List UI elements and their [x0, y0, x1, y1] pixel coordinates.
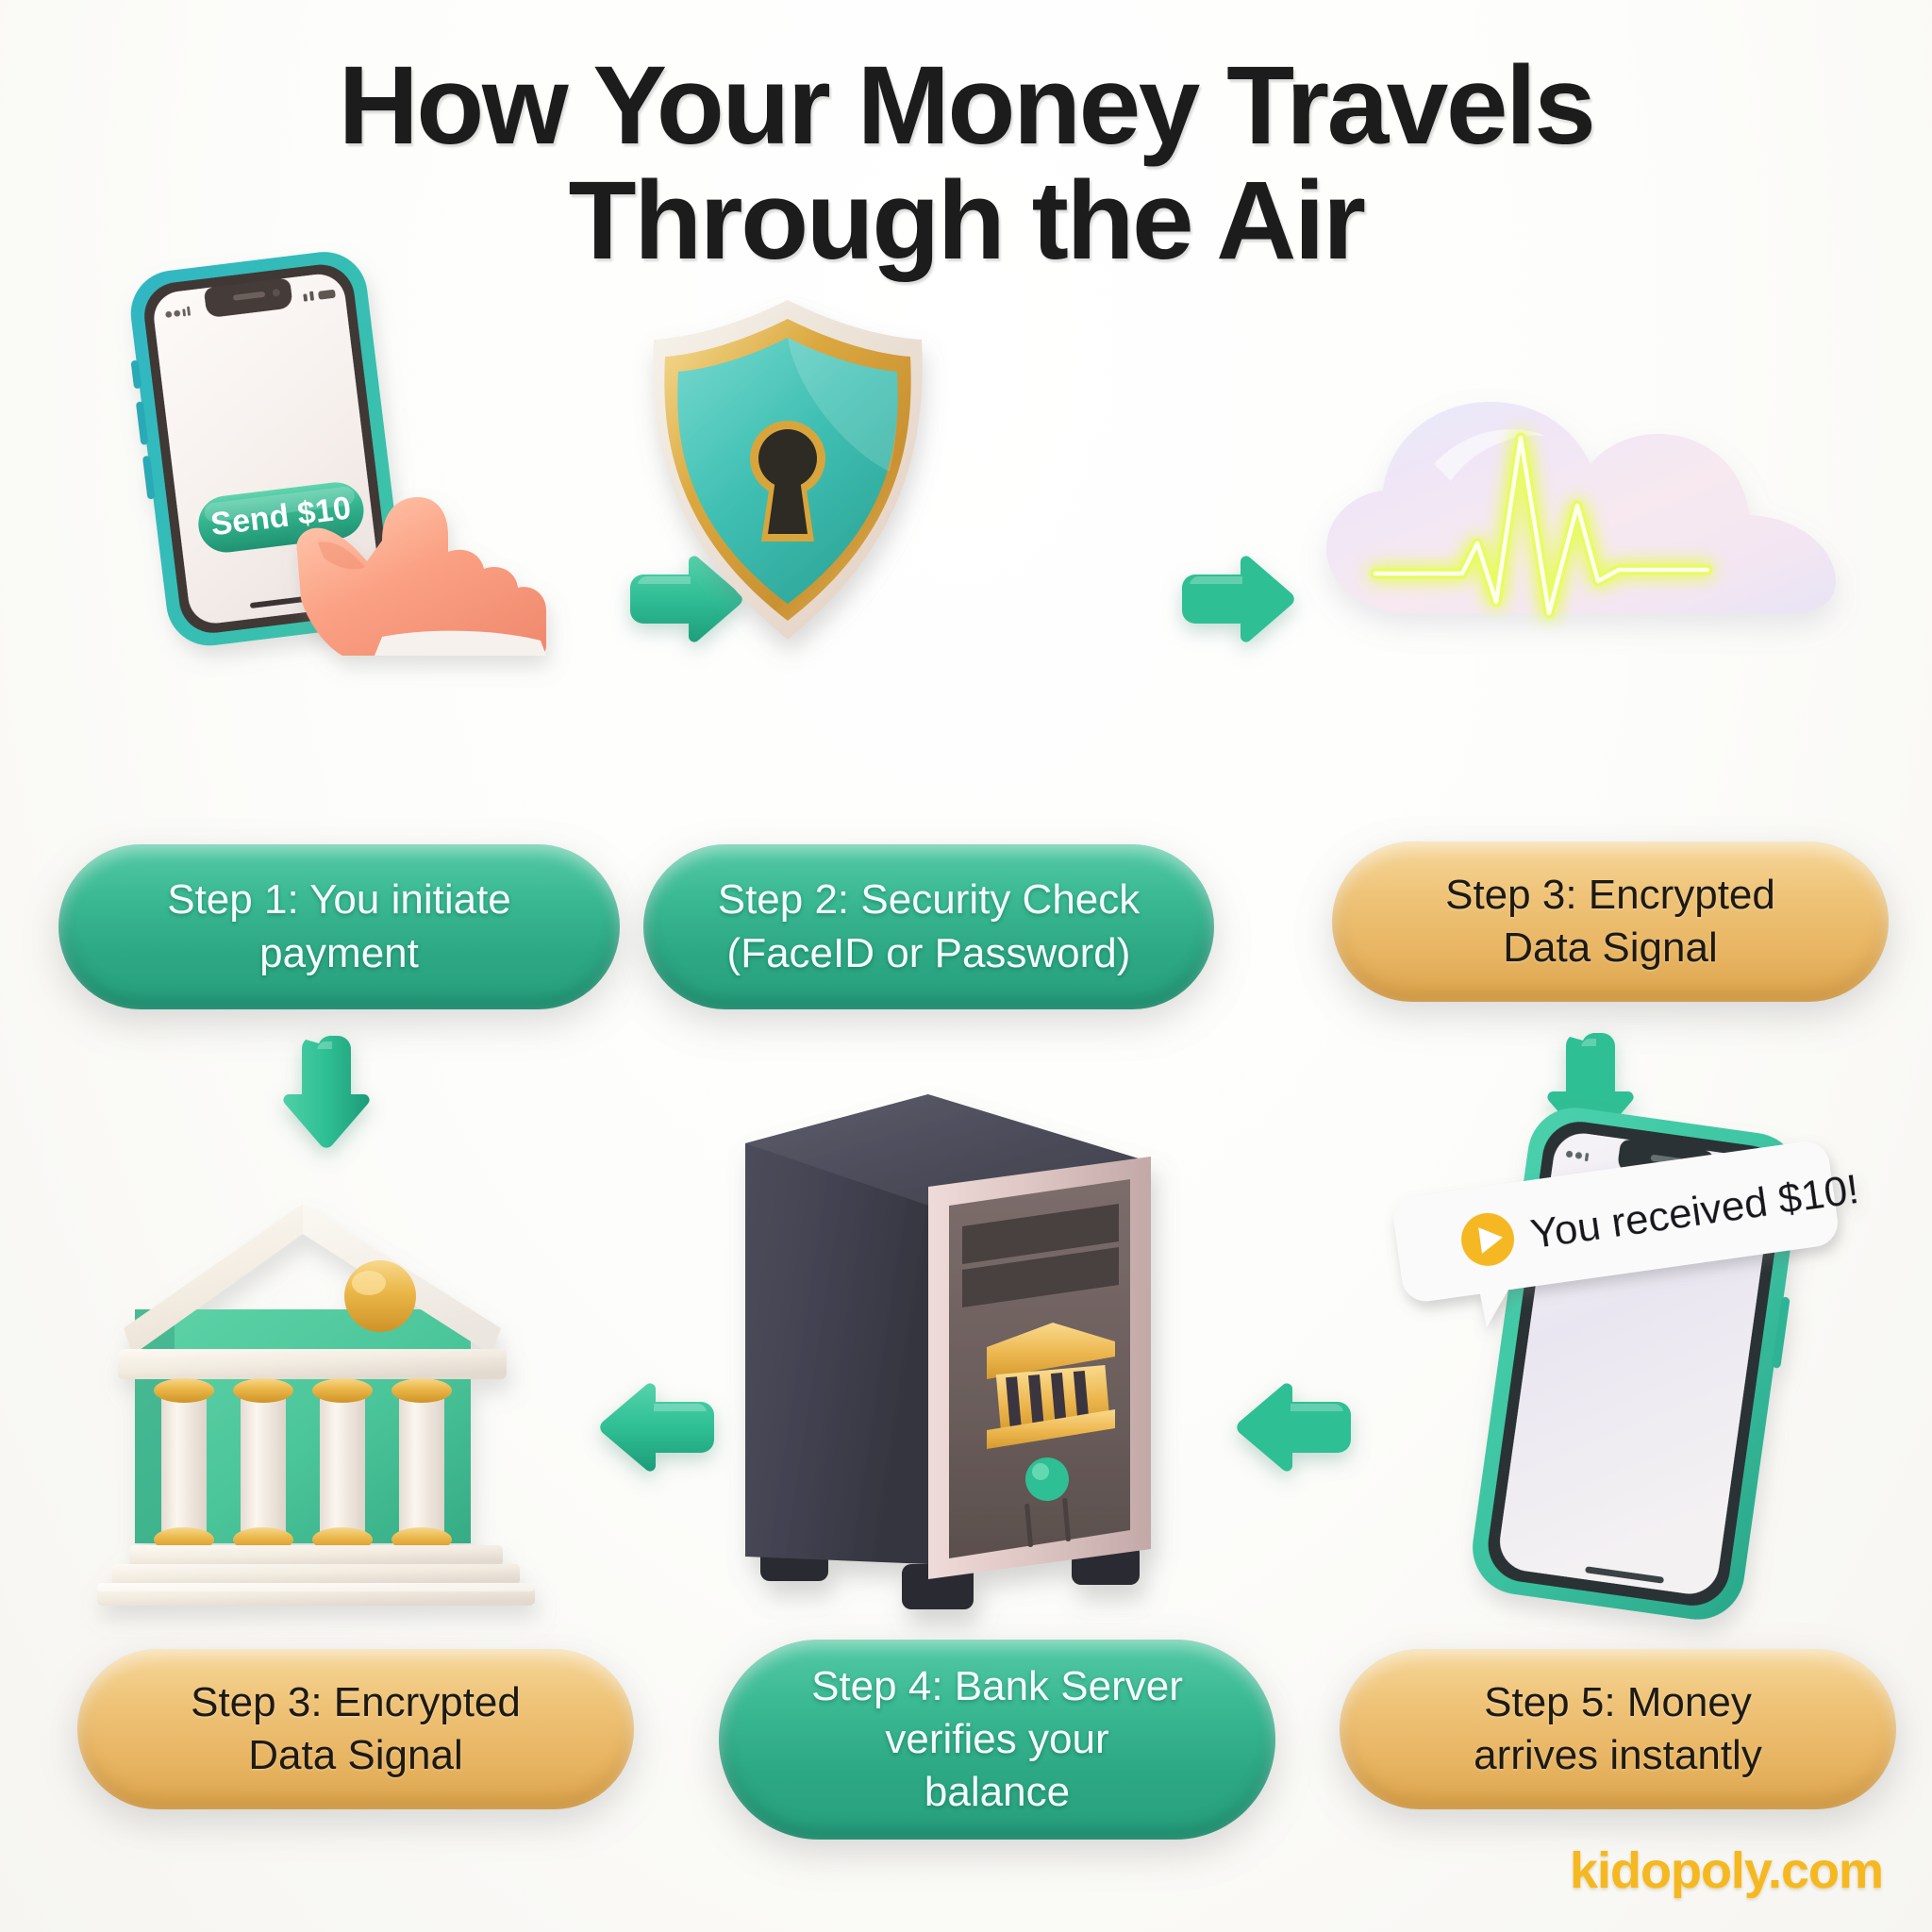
step-2-label[interactable]: Step 2: Security Check (FaceID or Passwo…: [643, 844, 1214, 1009]
arrow-down-to-bank: [283, 1036, 387, 1173]
step-1-illustration: Send $10: [99, 241, 571, 656]
title-line-1: How Your Money Travels: [339, 43, 1594, 168]
infographic-canvas: How Your Money Travels Through the Air: [0, 0, 1932, 1932]
step-4-label-text: Step 4: Bank Server verifies your balanc…: [751, 1660, 1243, 1820]
step-2-illustration: [608, 283, 967, 660]
arrow-right-step2-step3: [1174, 552, 1307, 656]
step-3-illustration: [1302, 377, 1877, 670]
step-2-label-text: Step 2: Security Check (FaceID or Passwo…: [675, 874, 1182, 980]
step-3-bottom-label[interactable]: Step 3: Encrypted Data Signal: [77, 1649, 634, 1809]
step-5-label-text: Step 5: Money arrives instantly: [1372, 1676, 1864, 1783]
step-1-label-text: Step 1: You initiate payment: [91, 874, 588, 980]
bank-dome-icon: [344, 1260, 416, 1332]
bank-emblem-icon: [987, 1323, 1115, 1449]
step-5-label[interactable]: Step 5: Money arrives instantly: [1340, 1649, 1896, 1809]
step-1-label[interactable]: Step 1: You initiate payment: [58, 844, 620, 1009]
step-3-top-label-text: Step 3: Encrypted Data Signal: [1364, 869, 1857, 975]
server-led-indicator: [1025, 1457, 1069, 1501]
server-tower-illustration: [726, 1085, 1189, 1632]
arrow-left-server-to-bank: [585, 1377, 722, 1486]
step-5-illustration: You received $10!: [1396, 1099, 1868, 1627]
watermark: kidopoly.com: [1570, 1841, 1883, 1900]
step-3-top-label[interactable]: Step 3: Encrypted Data Signal: [1332, 841, 1889, 1002]
bank-building-illustration: [80, 1189, 552, 1623]
arrow-left-phone-to-server: [1222, 1377, 1358, 1486]
step-4-label[interactable]: Step 4: Bank Server verifies your balanc…: [719, 1640, 1275, 1840]
step-3-bottom-label-text: Step 3: Encrypted Data Signal: [109, 1676, 602, 1783]
